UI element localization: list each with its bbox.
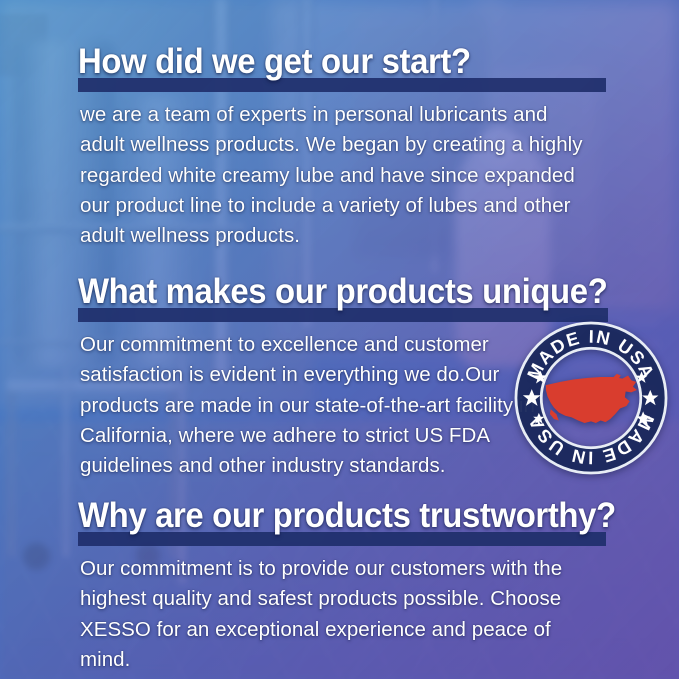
section-heading-3: Why are our products trustworthy? xyxy=(78,498,616,533)
section-body-3: Our commitment is to provide our custome… xyxy=(80,554,588,675)
section-heading-2: What makes our products unique? xyxy=(78,274,607,309)
made-in-usa-badge: MADE IN USA MADE IN USA xyxy=(512,319,670,477)
infographic-canvas: How did we get our start? we are a team … xyxy=(0,0,679,679)
content-layer: How did we get our start? we are a team … xyxy=(0,0,679,679)
section-body-2: Our commitment to excellence and custome… xyxy=(80,330,535,482)
section-body-1: we are a team of experts in personal lub… xyxy=(80,100,595,252)
section-heading-1: How did we get our start? xyxy=(78,44,471,79)
